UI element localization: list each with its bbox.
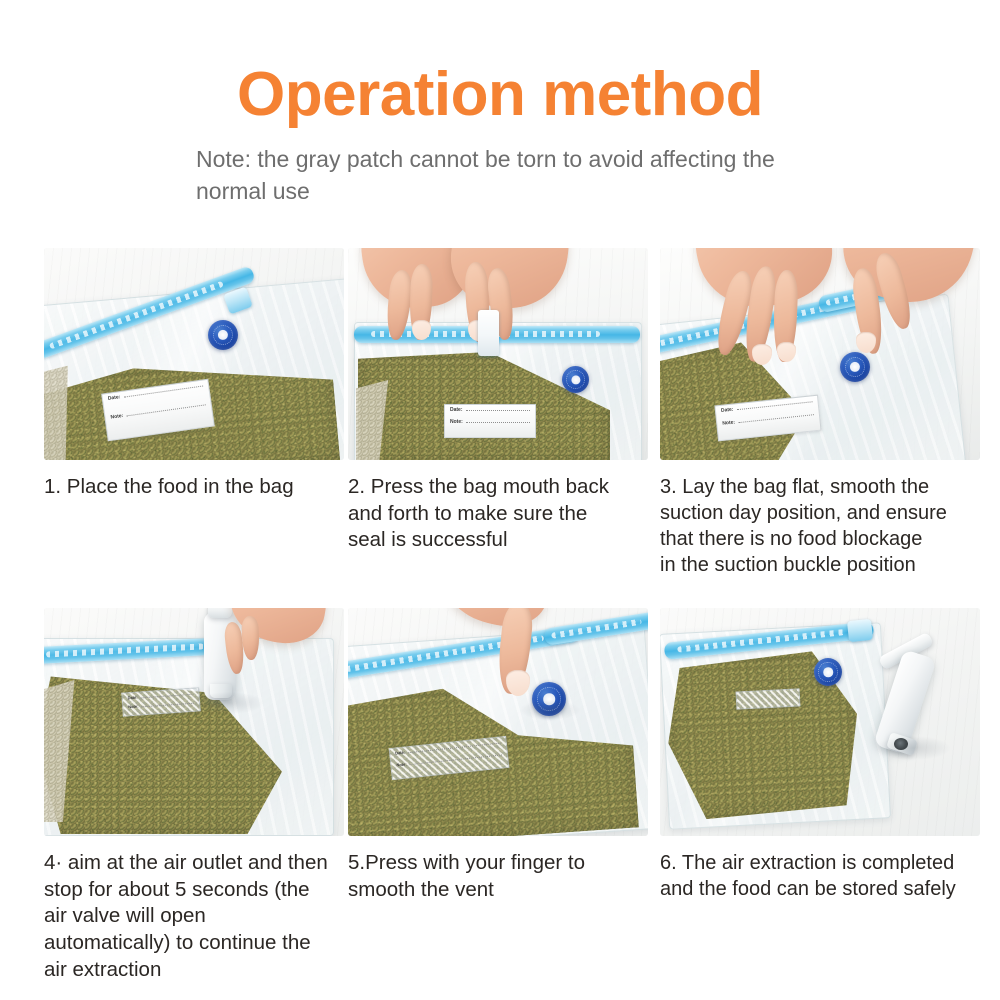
step-caption-3: 3. Lay the bag flat, smooth the suction … (660, 474, 980, 578)
step-photo-5: Date: Note: (348, 608, 648, 836)
steps-row-bottom: Date: Note: 4· aim at the air outlet and (0, 608, 1000, 958)
step-photo-4: Date: Note: (44, 608, 344, 836)
label-date: Date: (395, 751, 405, 756)
zip-slider (478, 310, 499, 356)
suction-valve-icon (814, 658, 842, 686)
page-title: Operation method (0, 0, 1000, 126)
step-caption-4: 4· aim at the air outlet and then stop f… (44, 850, 344, 983)
label-date: Date: (128, 696, 138, 701)
step-card-5: Date: Note: 5.Press with your finger to … (348, 608, 648, 903)
step-photo-1: Date: Note: (44, 248, 344, 460)
label-note: Note: (110, 414, 123, 421)
date-note-label (736, 688, 801, 709)
header: Operation method Note: the gray patch ca… (0, 0, 1000, 207)
label-note: Note: (722, 421, 735, 428)
label-note: Note: (396, 763, 407, 768)
step-card-6: 6. The air extraction is completed and t… (660, 608, 980, 902)
step-photo-3: Date: Note: (660, 248, 980, 460)
label-date: Date: (108, 395, 121, 402)
step-caption-5: 5.Press with your finger to smooth the v… (348, 850, 648, 903)
step-caption-6: 6. The air extraction is completed and t… (660, 850, 980, 902)
step-photo-2: Date: Note: (348, 248, 648, 460)
step-card-3: Date: Note: (660, 248, 980, 578)
label-date: Date: (450, 408, 463, 413)
step-caption-1: 1. Place the food in the bag (44, 474, 344, 501)
note-text: Note: the gray patch cannot be torn to a… (196, 144, 836, 207)
step-photo-6 (660, 608, 980, 836)
label-note: Note: (128, 705, 139, 710)
date-note-label: Date: Note: (444, 404, 536, 438)
steps-grid: Date: Note: 1. Place the food in the bag (0, 248, 1000, 958)
operation-method-infographic: Operation method Note: the gray patch ca… (0, 0, 1000, 1000)
step-card-4: Date: Note: 4· aim at the air outlet and (44, 608, 344, 983)
step-card-1: Date: Note: 1. Place the food in the bag (44, 248, 344, 501)
steps-row-top: Date: Note: 1. Place the food in the bag (0, 248, 1000, 588)
suction-valve-icon (208, 320, 238, 350)
step-caption-2: 2. Press the bag mouth back and forth to… (348, 474, 648, 554)
label-date: Date: (721, 408, 734, 415)
suction-valve-icon (840, 352, 870, 382)
suction-valve-icon (562, 366, 589, 393)
label-note: Note: (450, 420, 463, 425)
step-card-2: Date: Note: 2. (348, 248, 648, 554)
